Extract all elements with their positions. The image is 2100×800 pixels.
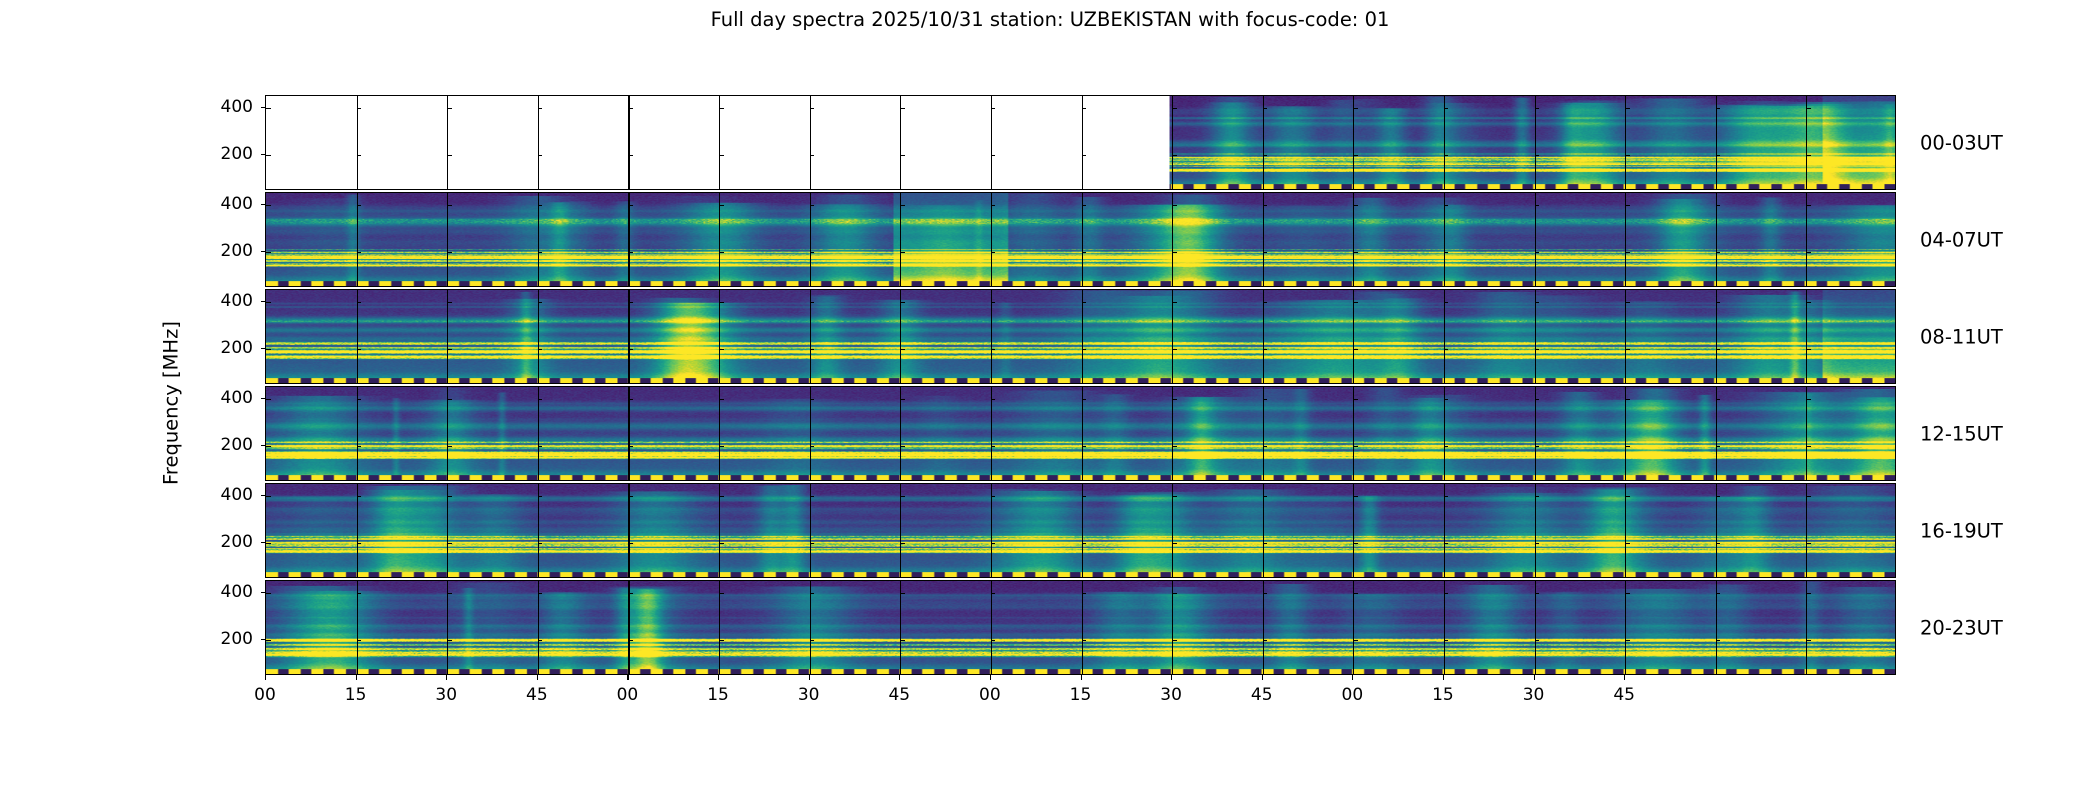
column-divider xyxy=(1716,387,1717,480)
y-tick-mark xyxy=(1806,543,1811,544)
y-tick-mark xyxy=(266,349,271,350)
column-divider xyxy=(810,96,811,189)
y-tick-mark xyxy=(1806,155,1811,156)
y-tick-mark xyxy=(900,593,905,594)
x-tick-mark xyxy=(265,675,266,680)
y-tick-mark xyxy=(1353,399,1358,400)
column-divider xyxy=(538,387,539,480)
y-tick-mark xyxy=(1625,399,1630,400)
column-divider xyxy=(1263,290,1264,383)
y-tick-mark xyxy=(1172,593,1177,594)
y-tick-mark xyxy=(900,446,905,447)
y-tick-mark xyxy=(1625,640,1630,641)
column-divider xyxy=(991,484,992,577)
y-tick-mark xyxy=(357,349,362,350)
x-tick-mark xyxy=(627,675,628,680)
y-tick-mark xyxy=(538,205,543,206)
column-divider xyxy=(810,193,811,286)
y-tick-mark xyxy=(628,302,633,303)
y-tick-mark xyxy=(810,496,815,497)
column-divider xyxy=(538,484,539,577)
row-label-20-23ut: 20-23UT xyxy=(1920,616,2003,639)
y-tick-mark xyxy=(1535,446,1540,447)
column-divider xyxy=(447,193,448,286)
x-tick-label: 45 xyxy=(888,685,910,705)
column-divider xyxy=(719,484,720,577)
x-tick-label: 15 xyxy=(1432,685,1454,705)
y-tick-mark xyxy=(1353,640,1358,641)
y-tick-mark xyxy=(1172,302,1177,303)
y-tick-mark xyxy=(719,640,724,641)
column-divider xyxy=(991,96,992,189)
x-tick-label: 30 xyxy=(435,685,457,705)
column-divider xyxy=(538,290,539,383)
x-tick-label: 45 xyxy=(526,685,548,705)
y-tick-mark xyxy=(266,496,271,497)
x-tick-mark xyxy=(718,675,719,680)
column-divider xyxy=(1716,193,1717,286)
column-divider xyxy=(1625,484,1626,577)
y-tick-mark xyxy=(719,543,724,544)
y-tick-mark xyxy=(538,446,543,447)
column-divider xyxy=(1444,96,1445,189)
y-tick-mark xyxy=(266,543,271,544)
y-tick-mark xyxy=(628,446,633,447)
column-divider xyxy=(1082,193,1083,286)
y-tick-mark xyxy=(900,640,905,641)
y-tick-label: 200 xyxy=(195,435,253,455)
y-tick-mark xyxy=(1625,446,1630,447)
y-tick-mark xyxy=(538,496,543,497)
y-tick-mark xyxy=(1082,640,1087,641)
y-tick-mark xyxy=(1806,302,1811,303)
y-tick-mark xyxy=(900,399,905,400)
y-tick-mark xyxy=(1353,155,1358,156)
x-tick-mark xyxy=(1262,675,1263,680)
y-tick-mark xyxy=(1625,108,1630,109)
y-tick-mark-outer xyxy=(261,445,266,446)
spectrogram-image xyxy=(266,193,1895,286)
y-tick-mark xyxy=(1082,349,1087,350)
x-tick-mark xyxy=(1534,675,1535,680)
y-tick-mark xyxy=(357,640,362,641)
x-tick-mark xyxy=(356,675,357,680)
spectrogram-figure: Full day spectra 2025/10/31 station: UZB… xyxy=(0,0,2100,800)
y-tick-mark xyxy=(1444,302,1449,303)
y-tick-mark xyxy=(1625,252,1630,253)
y-tick-mark xyxy=(1535,640,1540,641)
y-tick-mark xyxy=(1263,446,1268,447)
y-tick-mark xyxy=(1082,446,1087,447)
column-divider xyxy=(991,290,992,383)
y-tick-mark xyxy=(1172,108,1177,109)
y-tick-mark xyxy=(1444,543,1449,544)
y-tick-mark xyxy=(447,108,452,109)
column-divider xyxy=(1172,581,1173,674)
y-tick-mark xyxy=(991,496,996,497)
column-divider xyxy=(1082,387,1083,480)
y-tick-mark xyxy=(1806,205,1811,206)
y-tick-mark xyxy=(1263,108,1268,109)
y-tick-mark xyxy=(1353,446,1358,447)
column-divider xyxy=(1625,193,1626,286)
spectrogram-row-12-15ut[interactable] xyxy=(265,386,1896,481)
column-divider xyxy=(719,387,720,480)
column-divider xyxy=(1353,96,1354,189)
y-tick-mark xyxy=(1263,205,1268,206)
column-divider xyxy=(900,96,901,189)
column-divider xyxy=(1172,193,1173,286)
y-tick-label: 200 xyxy=(195,241,253,261)
spectrogram-row-00-03ut[interactable] xyxy=(265,95,1896,190)
y-tick-mark xyxy=(900,108,905,109)
y-tick-mark xyxy=(447,205,452,206)
y-tick-mark xyxy=(991,593,996,594)
column-divider xyxy=(357,387,358,480)
y-tick-mark-outer xyxy=(261,495,266,496)
y-tick-mark xyxy=(266,640,271,641)
column-divider xyxy=(719,96,720,189)
column-divider xyxy=(628,290,629,383)
x-tick-label: 00 xyxy=(617,685,639,705)
x-tick-mark xyxy=(1443,675,1444,680)
y-tick-label: 200 xyxy=(195,144,253,164)
y-tick-mark xyxy=(1082,302,1087,303)
column-divider xyxy=(628,581,629,674)
row-label-08-11ut: 08-11UT xyxy=(1920,325,2003,348)
y-tick-label: 400 xyxy=(195,97,253,117)
column-divider xyxy=(538,193,539,286)
y-tick-mark xyxy=(1353,205,1358,206)
x-tick-mark xyxy=(1624,675,1625,680)
y-tick-mark xyxy=(1806,593,1811,594)
column-divider xyxy=(357,581,358,674)
column-divider xyxy=(1806,387,1807,480)
y-tick-mark-outer xyxy=(261,542,266,543)
x-tick-label: 00 xyxy=(254,685,276,705)
y-tick-mark xyxy=(810,349,815,350)
y-tick-mark xyxy=(628,496,633,497)
x-tick-mark xyxy=(537,675,538,680)
column-divider xyxy=(900,581,901,674)
y-tick-mark xyxy=(1082,496,1087,497)
column-divider xyxy=(447,484,448,577)
y-tick-mark xyxy=(1263,302,1268,303)
y-tick-mark xyxy=(1444,446,1449,447)
column-divider xyxy=(628,387,629,480)
y-tick-mark xyxy=(991,399,996,400)
y-tick-mark xyxy=(719,108,724,109)
spectrogram-image xyxy=(266,290,1895,383)
y-tick-mark xyxy=(447,302,452,303)
column-divider xyxy=(719,581,720,674)
y-tick-mark-outer xyxy=(261,251,266,252)
column-divider xyxy=(1535,387,1536,480)
y-tick-mark xyxy=(357,205,362,206)
x-tick-mark xyxy=(446,675,447,680)
column-divider xyxy=(1625,290,1626,383)
y-tick-mark xyxy=(1716,446,1721,447)
column-divider xyxy=(447,290,448,383)
y-tick-mark-outer xyxy=(261,348,266,349)
column-divider xyxy=(1353,581,1354,674)
y-tick-mark xyxy=(719,446,724,447)
y-tick-mark xyxy=(1263,399,1268,400)
y-tick-mark xyxy=(991,446,996,447)
y-tick-mark xyxy=(991,640,996,641)
y-tick-mark xyxy=(1535,252,1540,253)
y-tick-mark xyxy=(810,446,815,447)
y-tick-mark xyxy=(1535,496,1540,497)
y-tick-mark xyxy=(1263,496,1268,497)
y-tick-mark xyxy=(538,108,543,109)
y-tick-mark xyxy=(1535,543,1540,544)
y-tick-mark xyxy=(810,543,815,544)
column-divider xyxy=(900,290,901,383)
y-tick-mark xyxy=(1806,446,1811,447)
y-tick-mark xyxy=(1444,640,1449,641)
y-tick-mark xyxy=(447,155,452,156)
y-tick-mark xyxy=(1172,543,1177,544)
column-divider xyxy=(900,484,901,577)
y-tick-mark xyxy=(1082,205,1087,206)
x-tick-mark xyxy=(1081,675,1082,680)
column-divider xyxy=(1353,193,1354,286)
y-tick-mark xyxy=(1806,108,1811,109)
y-tick-mark xyxy=(1353,302,1358,303)
y-tick-mark xyxy=(266,446,271,447)
y-tick-mark xyxy=(719,252,724,253)
y-tick-mark xyxy=(1172,399,1177,400)
x-tick-label: 15 xyxy=(345,685,367,705)
column-divider xyxy=(357,290,358,383)
y-tick-mark xyxy=(628,640,633,641)
x-tick-mark xyxy=(809,675,810,680)
y-tick-mark xyxy=(1625,496,1630,497)
y-tick-mark xyxy=(1172,446,1177,447)
y-tick-mark xyxy=(1625,302,1630,303)
y-tick-mark xyxy=(1625,205,1630,206)
y-tick-mark xyxy=(1444,252,1449,253)
y-tick-mark xyxy=(719,205,724,206)
y-tick-mark xyxy=(1353,108,1358,109)
column-divider xyxy=(719,290,720,383)
y-tick-mark xyxy=(628,543,633,544)
y-tick-mark xyxy=(1082,252,1087,253)
y-tick-mark xyxy=(1535,349,1540,350)
y-tick-mark xyxy=(719,349,724,350)
x-tick-label: 45 xyxy=(1251,685,1273,705)
column-divider xyxy=(1535,484,1536,577)
column-divider xyxy=(810,581,811,674)
y-tick-mark xyxy=(1716,205,1721,206)
y-tick-mark xyxy=(1444,399,1449,400)
x-tick-label: 30 xyxy=(1523,685,1545,705)
y-tick-mark xyxy=(1353,252,1358,253)
column-divider xyxy=(1625,581,1626,674)
y-tick-mark xyxy=(991,205,996,206)
y-tick-mark xyxy=(1444,496,1449,497)
column-divider xyxy=(1806,290,1807,383)
y-tick-mark xyxy=(991,108,996,109)
y-tick-mark xyxy=(1172,349,1177,350)
y-tick-mark xyxy=(266,155,271,156)
y-tick-mark xyxy=(991,349,996,350)
y-tick-mark xyxy=(991,302,996,303)
column-divider xyxy=(1082,484,1083,577)
y-tick-mark xyxy=(719,302,724,303)
row-label-00-03ut: 00-03UT xyxy=(1920,131,2003,154)
y-tick-mark xyxy=(900,496,905,497)
y-tick-mark xyxy=(1353,543,1358,544)
column-divider xyxy=(447,387,448,480)
y-tick-mark xyxy=(900,155,905,156)
column-divider xyxy=(447,96,448,189)
y-tick-mark xyxy=(1716,543,1721,544)
y-tick-mark xyxy=(1263,640,1268,641)
spectrogram-image xyxy=(266,484,1895,577)
y-tick-label: 200 xyxy=(195,338,253,358)
column-divider xyxy=(900,387,901,480)
y-tick-mark xyxy=(719,155,724,156)
y-tick-mark xyxy=(1716,155,1721,156)
y-tick-mark xyxy=(628,399,633,400)
column-divider xyxy=(1806,193,1807,286)
y-tick-label: 400 xyxy=(195,291,253,311)
column-divider xyxy=(1172,484,1173,577)
y-tick-mark xyxy=(357,155,362,156)
column-divider xyxy=(1535,581,1536,674)
y-tick-mark xyxy=(1806,252,1811,253)
y-tick-mark-outer xyxy=(261,592,266,593)
column-divider xyxy=(628,193,629,286)
y-tick-mark xyxy=(719,496,724,497)
y-tick-mark xyxy=(1716,399,1721,400)
y-tick-mark xyxy=(1625,349,1630,350)
column-divider xyxy=(1716,581,1717,674)
column-divider xyxy=(1353,290,1354,383)
column-divider xyxy=(447,581,448,674)
spectrogram-row-04-07ut[interactable] xyxy=(265,192,1896,287)
column-divider xyxy=(1444,387,1445,480)
y-tick-mark xyxy=(900,543,905,544)
column-divider xyxy=(1263,581,1264,674)
column-divider xyxy=(1716,290,1717,383)
y-tick-mark xyxy=(1444,155,1449,156)
column-divider xyxy=(1806,581,1807,674)
y-tick-mark xyxy=(1806,640,1811,641)
column-divider xyxy=(538,581,539,674)
y-tick-mark xyxy=(538,640,543,641)
y-tick-mark xyxy=(1625,593,1630,594)
column-divider xyxy=(1444,581,1445,674)
y-tick-mark xyxy=(357,108,362,109)
y-tick-mark xyxy=(266,252,271,253)
y-tick-mark xyxy=(1082,399,1087,400)
column-divider xyxy=(1172,387,1173,480)
column-divider xyxy=(1263,96,1264,189)
column-divider xyxy=(1535,290,1536,383)
y-tick-mark xyxy=(357,593,362,594)
y-tick-label: 400 xyxy=(195,194,253,214)
column-divider xyxy=(900,193,901,286)
y-tick-mark xyxy=(266,399,271,400)
y-tick-mark xyxy=(1353,593,1358,594)
y-tick-mark xyxy=(1172,640,1177,641)
y-tick-mark xyxy=(266,108,271,109)
y-tick-mark xyxy=(1535,302,1540,303)
column-divider xyxy=(357,484,358,577)
spectrogram-image xyxy=(266,387,1895,480)
column-divider xyxy=(1172,96,1173,189)
row-label-04-07ut: 04-07UT xyxy=(1920,228,2003,251)
spectrogram-row-08-11ut[interactable] xyxy=(265,289,1896,384)
y-tick-mark xyxy=(1172,496,1177,497)
y-tick-mark xyxy=(1535,155,1540,156)
y-tick-mark xyxy=(1625,543,1630,544)
y-tick-mark xyxy=(1535,399,1540,400)
y-tick-mark-outer xyxy=(261,301,266,302)
y-tick-mark xyxy=(1172,252,1177,253)
y-tick-mark xyxy=(900,252,905,253)
y-tick-mark xyxy=(447,496,452,497)
y-tick-mark xyxy=(1716,252,1721,253)
y-tick-mark xyxy=(1172,155,1177,156)
y-tick-mark xyxy=(357,496,362,497)
x-tick-mark xyxy=(1171,675,1172,680)
column-divider xyxy=(810,387,811,480)
y-tick-mark xyxy=(1444,593,1449,594)
y-tick-mark xyxy=(719,593,724,594)
column-divider xyxy=(1172,290,1173,383)
y-tick-mark xyxy=(628,252,633,253)
column-divider xyxy=(1263,387,1264,480)
y-tick-mark xyxy=(810,593,815,594)
y-tick-mark xyxy=(810,399,815,400)
y-tick-mark xyxy=(447,543,452,544)
spectrogram-row-16-19ut[interactable] xyxy=(265,483,1896,578)
y-tick-mark xyxy=(810,252,815,253)
y-tick-label: 200 xyxy=(195,629,253,649)
spectrogram-image xyxy=(266,96,1895,189)
y-tick-mark-outer xyxy=(261,398,266,399)
y-tick-mark xyxy=(1716,349,1721,350)
y-tick-mark xyxy=(1172,205,1177,206)
x-tick-label: 30 xyxy=(798,685,820,705)
x-tick-mark xyxy=(990,675,991,680)
y-tick-mark xyxy=(991,252,996,253)
column-divider xyxy=(1716,96,1717,189)
y-tick-label: 200 xyxy=(195,532,253,552)
column-divider xyxy=(1535,193,1536,286)
y-tick-mark xyxy=(1716,593,1721,594)
y-tick-mark xyxy=(266,205,271,206)
column-divider xyxy=(1806,484,1807,577)
spectrogram-row-20-23ut[interactable] xyxy=(265,580,1896,675)
y-tick-mark xyxy=(447,640,452,641)
row-label-12-15ut: 12-15UT xyxy=(1920,422,2003,445)
y-tick-mark xyxy=(1353,349,1358,350)
column-divider xyxy=(1353,484,1354,577)
row-label-16-19ut: 16-19UT xyxy=(1920,519,2003,542)
y-tick-mark xyxy=(447,446,452,447)
y-tick-mark xyxy=(447,349,452,350)
y-tick-mark xyxy=(1444,349,1449,350)
x-tick-label: 00 xyxy=(1342,685,1364,705)
y-tick-mark xyxy=(810,302,815,303)
x-tick-mark xyxy=(1352,675,1353,680)
y-tick-mark xyxy=(538,155,543,156)
